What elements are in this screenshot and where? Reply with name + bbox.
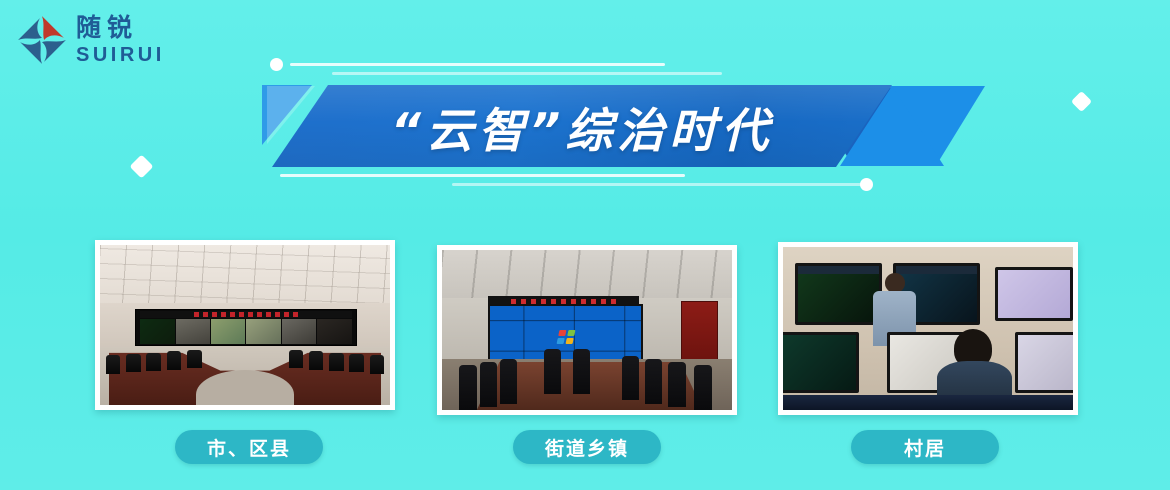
card-label-village[interactable]: 村居 bbox=[851, 430, 999, 464]
banner-bottom-dot bbox=[860, 178, 873, 191]
photo-boardroom bbox=[100, 245, 390, 405]
banner-top-line-1 bbox=[290, 63, 665, 66]
title-banner: “云智”综治时代 bbox=[262, 54, 952, 194]
photo-card[interactable] bbox=[437, 245, 737, 415]
slide-canvas: 随锐 SUIRUI “云智”综治时代 bbox=[0, 0, 1170, 490]
brand-name-en: SUIRUI bbox=[76, 45, 165, 65]
photo-card[interactable] bbox=[95, 240, 395, 410]
card-label-city-district[interactable]: 市、区县 bbox=[175, 430, 323, 464]
banner-bottom-line-1 bbox=[280, 174, 685, 177]
brand-name-cn: 随锐 bbox=[76, 16, 165, 41]
photo-monitoring-room bbox=[783, 247, 1073, 410]
brand-wordmark: 随锐 SUIRUI bbox=[76, 16, 165, 65]
banner-top-dot bbox=[270, 58, 283, 71]
photo-meeting-room bbox=[442, 250, 732, 410]
banner-bottom-line-2 bbox=[452, 183, 872, 186]
photo-card[interactable] bbox=[778, 242, 1078, 415]
brand-logo: 随锐 SUIRUI bbox=[16, 14, 165, 66]
banner-title-text: “云智”综治时代 bbox=[272, 85, 892, 167]
card-label-street-township[interactable]: 街道乡镇 bbox=[513, 430, 661, 464]
banner-top-line-2 bbox=[332, 72, 722, 75]
suirui-pinwheel-logo-icon bbox=[16, 14, 68, 66]
